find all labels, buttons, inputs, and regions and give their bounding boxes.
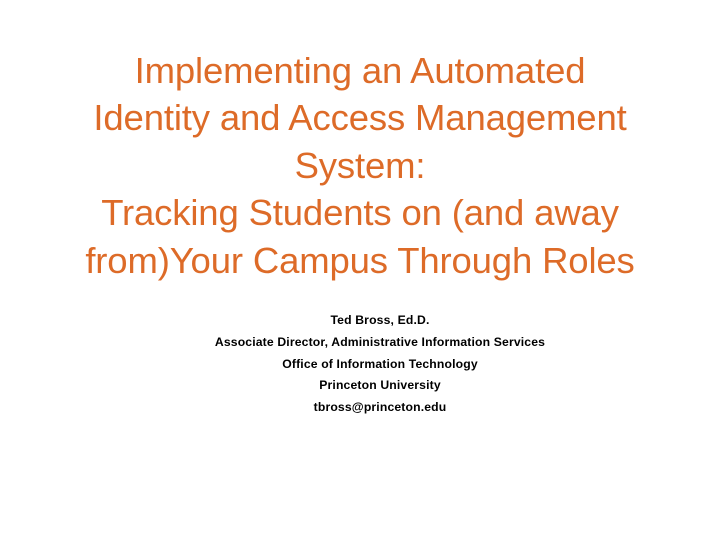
slide-title: Implementing an Automated Identity and A… <box>48 47 672 284</box>
author-institution: Princeton University <box>80 375 680 397</box>
slide-subtitle: Ted Bross, Ed.D. Associate Director, Adm… <box>80 310 680 419</box>
author-name: Ted Bross, Ed.D. <box>80 310 680 332</box>
presentation-slide: Implementing an Automated Identity and A… <box>0 0 720 540</box>
title-line-3: System: <box>48 142 672 189</box>
author-title: Associate Director, Administrative Infor… <box>80 332 680 354</box>
author-department: Office of Information Technology <box>80 354 680 376</box>
title-line-5: from)Your Campus Through Roles <box>48 237 672 284</box>
title-line-2: Identity and Access Management <box>48 94 672 141</box>
title-line-4: Tracking Students on (and away <box>48 189 672 236</box>
author-email: tbross@princeton.edu <box>80 397 680 419</box>
title-line-1: Implementing an Automated <box>48 47 672 94</box>
